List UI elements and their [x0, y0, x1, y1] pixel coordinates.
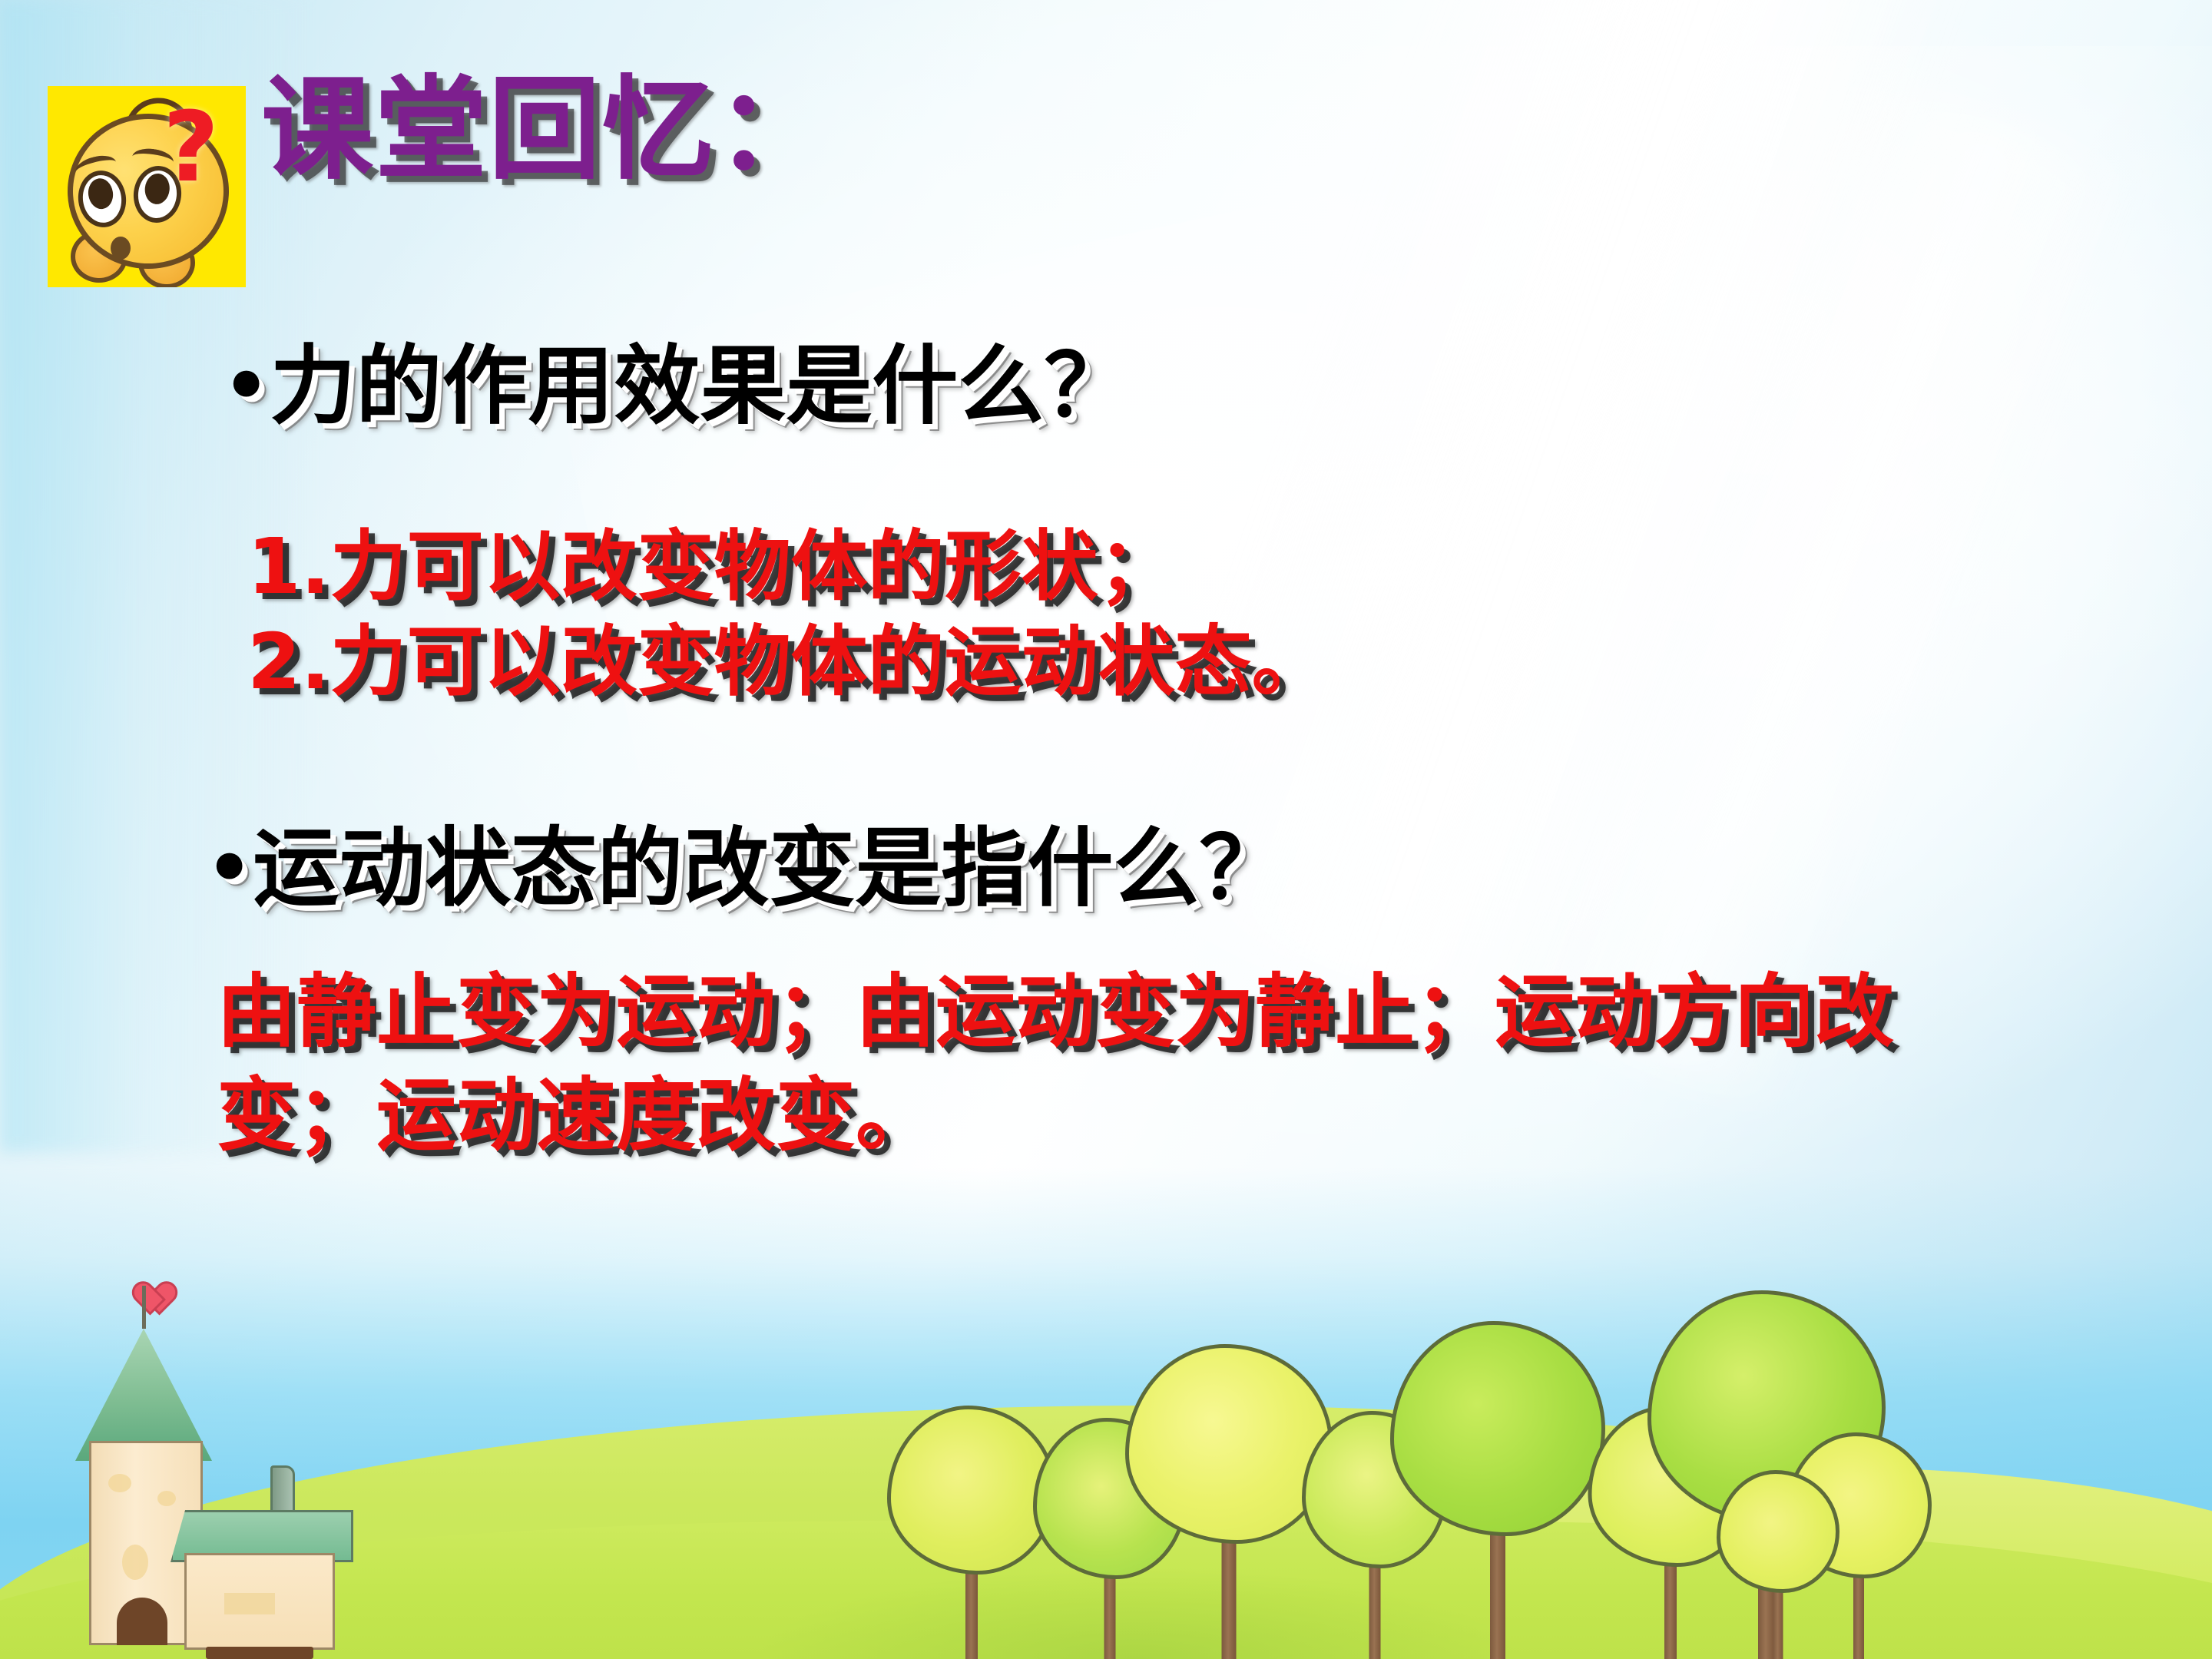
answer-line: 1.力可以改变物体的形状； [247, 519, 1329, 614]
bullet-question-1-text: 力的作用效果是什么？ [270, 336, 1130, 436]
house-wall-spot [122, 1545, 148, 1580]
bullet-question-2-text: 运动状态的改变是指什么？ [253, 819, 1285, 919]
page-title: 课堂回忆： [261, 74, 829, 186]
bullet-marker: • [223, 343, 270, 429]
question-mark-icon: ? [163, 108, 233, 200]
house-wall-spot [108, 1474, 131, 1492]
house-window [224, 1593, 275, 1614]
answer-group-1: 1.力可以改变物体的形状； 2.力可以改变物体的运动状态。 [247, 519, 1329, 710]
emoji-pupil [86, 177, 114, 210]
house-wall-spot [157, 1491, 176, 1506]
tree-icon [1713, 1482, 1843, 1659]
tree-icon [1382, 1329, 1613, 1659]
bullet-question-1: •力的作用效果是什么？ [223, 341, 1130, 432]
house-step [206, 1647, 313, 1659]
bullet-marker: • [206, 825, 253, 911]
confused-face-icon: ? [48, 86, 246, 287]
slide-canvas: ? 课堂回忆： •力的作用效果是什么？ 1.力可以改变物体的形状； 2.力可以改… [0, 0, 2212, 1659]
emoji-mouth [111, 237, 131, 260]
answer-line: 由静止变为运动；由运动变为静止；运动方向改变；运动速度改变。 [217, 960, 2029, 1167]
answer-group-2: 由静止变为运动；由运动变为静止；运动方向改变；运动速度改变。 [217, 960, 2029, 1167]
house-mast [142, 1286, 146, 1329]
house-illustration [31, 1260, 384, 1659]
house-door [117, 1598, 167, 1645]
answer-line: 2.力可以改变物体的运动状态。 [247, 614, 1329, 710]
tree-crown [1717, 1470, 1839, 1593]
bullet-question-2: •运动状态的改变是指什么？ [206, 823, 1285, 915]
tree-crown [1390, 1321, 1605, 1536]
